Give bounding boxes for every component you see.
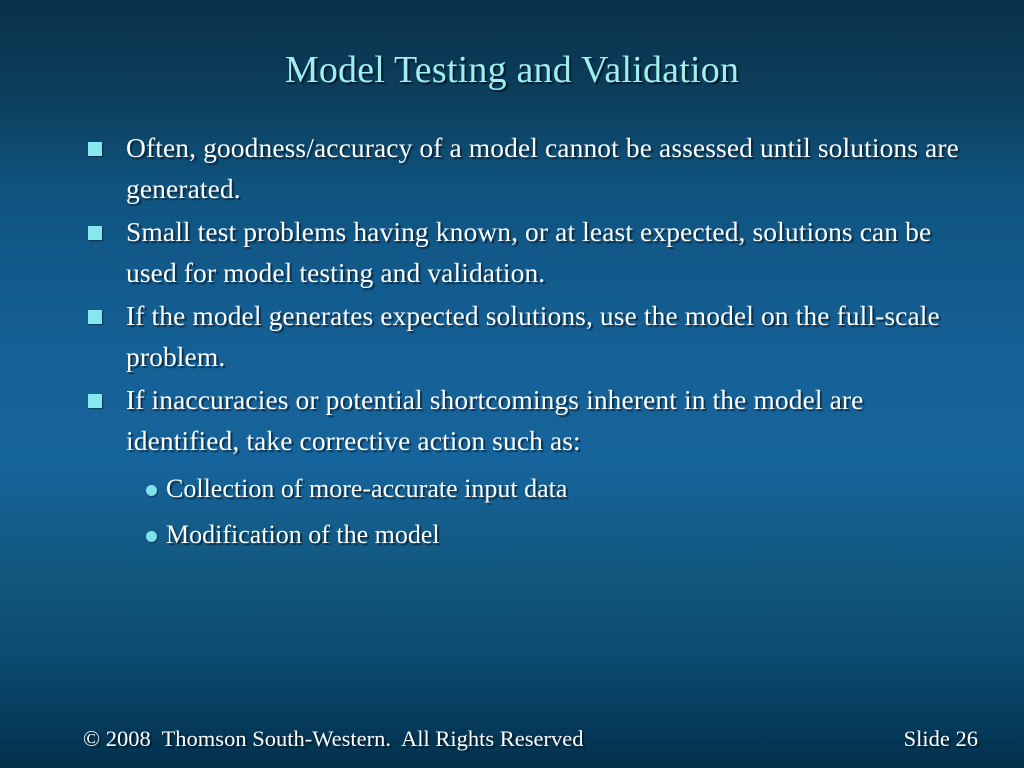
sub-bullet-list: Collection of more-accurate input data M… — [84, 470, 964, 554]
slide-number: Slide 26 — [904, 724, 978, 754]
sub-bullet-text: Modification of the model — [166, 516, 964, 554]
slide-body-content: Often, goodness/accuracy of a model cann… — [84, 128, 964, 562]
list-item: Often, goodness/accuracy of a model cann… — [84, 128, 964, 209]
bullet-text: If inaccuracies or potential shortcoming… — [126, 380, 964, 461]
list-item: If the model generates expected solution… — [84, 296, 964, 377]
round-bullet-icon — [146, 531, 157, 542]
copyright-notice: © 2008 Thomson South-Western. All Rights… — [83, 724, 583, 754]
sub-bullet-text: Collection of more-accurate input data — [166, 470, 964, 508]
list-item: Modification of the model — [146, 516, 964, 554]
square-bullet-icon — [88, 226, 102, 240]
bullet-text: Often, goodness/accuracy of a model cann… — [126, 128, 964, 209]
bullet-text: Small test problems having known, or at … — [126, 212, 964, 293]
presentation-slide: Model Testing and Validation Often, good… — [0, 0, 1024, 768]
page-title: Model Testing and Validation — [285, 47, 739, 93]
list-item: Collection of more-accurate input data — [146, 470, 964, 508]
slide-title-area: Model Testing and Validation — [0, 22, 1024, 119]
bullet-text: If the model generates expected solution… — [126, 296, 964, 377]
list-item: If inaccuracies or potential shortcoming… — [84, 380, 964, 461]
square-bullet-icon — [88, 142, 102, 156]
list-item: Small test problems having known, or at … — [84, 212, 964, 293]
round-bullet-icon — [146, 485, 157, 496]
square-bullet-icon — [88, 310, 102, 324]
square-bullet-icon — [88, 394, 102, 408]
